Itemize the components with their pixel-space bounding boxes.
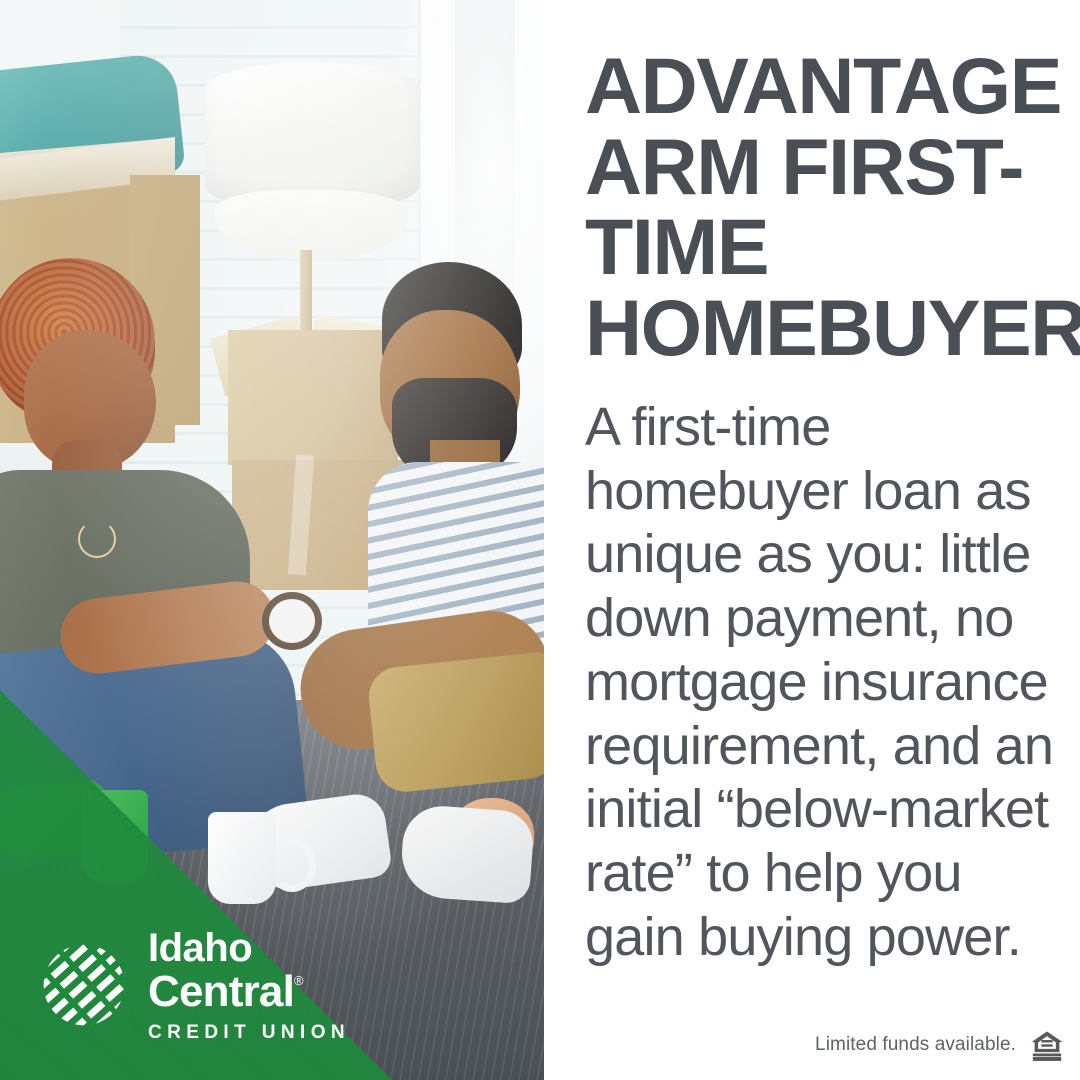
advertisement-canvas: Idaho Central ® CREDIT UNION ADVANTAGE A… [0,0,1080,1080]
footer-row: Limited funds available. [815,1028,1064,1062]
disclaimer-text: Limited funds available. [815,1034,1016,1056]
moving-day-photo [0,0,544,1080]
content-panel: ADVANTAGE ARM FIRST-TIME HOMEBUYER A fir… [544,0,1080,1080]
logo-name-line1: Idaho [148,928,350,968]
woman-necklace [78,520,116,558]
white-sneaker-right [399,804,535,905]
page-title: ADVANTAGE ARM FIRST-TIME HOMEBUYER [585,46,1055,368]
logo-tagline: CREDIT UNION [148,1023,350,1042]
logo-wordmark: Idaho Central ® CREDIT UNION [148,928,350,1042]
logo-name-line2-row: Central ® [148,970,350,1014]
man-shorts [366,650,544,794]
diagonal-stripes-circle-icon [36,937,132,1033]
green-mug [82,790,148,882]
equal-housing-lender-icon [1030,1028,1064,1062]
registered-trademark-symbol: ® [294,974,304,987]
hero-photo-panel: Idaho Central ® CREDIT UNION [0,0,544,1080]
body-copy: A first-time homebuyer loan as unique as… [585,396,1055,969]
cardboard-box-open [228,330,398,465]
white-mug [208,812,276,904]
white-mug-handle [268,838,316,892]
wristwatch [262,592,322,650]
idaho-central-logo: Idaho Central ® CREDIT UNION [36,928,350,1042]
logo-name-line2: Central [148,970,294,1014]
